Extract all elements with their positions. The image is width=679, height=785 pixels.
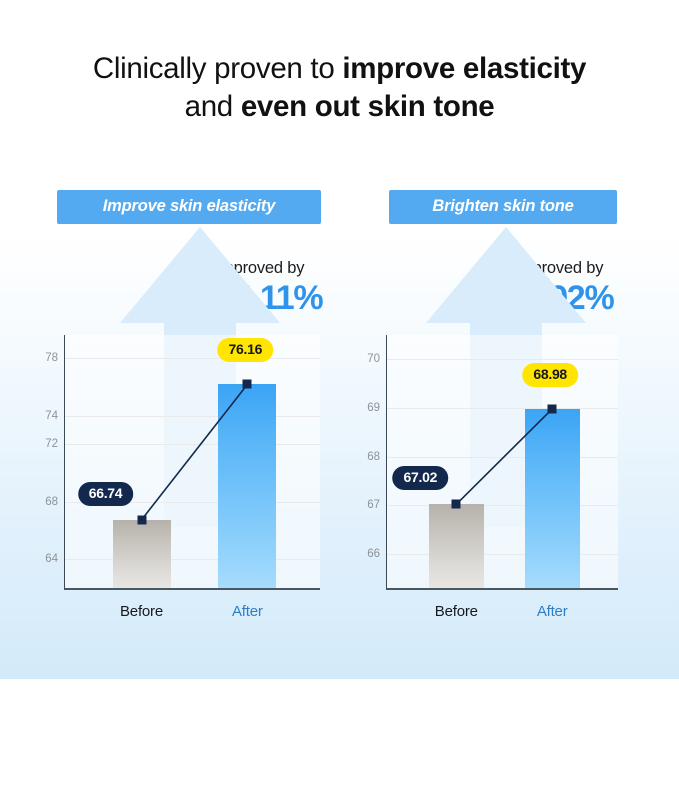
plot-wrapper-tone: 706968676667.0268.98BeforeAfter bbox=[386, 335, 618, 590]
plot-wrapper-elasticity: 787472686466.7476.16BeforeAfter bbox=[64, 335, 320, 590]
improvement-callout-tone: Improved by +2.92% bbox=[449, 258, 669, 317]
x-axis-label-before: Before bbox=[120, 603, 163, 620]
y-axis-tick-label: 78 bbox=[45, 352, 58, 364]
value-badge-after: 68.98 bbox=[522, 363, 578, 387]
chart-area-tone: 706968676667.0268.98BeforeAfter bbox=[358, 335, 648, 785]
y-axis-tick-label: 68 bbox=[367, 451, 380, 463]
data-point-marker-before bbox=[137, 515, 146, 524]
headline-line-2-bold: even out skin tone bbox=[241, 90, 495, 123]
y-axis-tick-label: 68 bbox=[45, 496, 58, 508]
x-axis-label-after: After bbox=[537, 603, 568, 620]
value-badge-after: 76.16 bbox=[218, 338, 274, 362]
y-axis-tick-label: 70 bbox=[367, 353, 380, 365]
improvement-callout-elasticity: Improved by +14.11% bbox=[150, 258, 370, 317]
chart-panel-elasticity: Improve skin elasticity Improved by +14.… bbox=[34, 190, 344, 224]
headline-line-2-plain: and bbox=[185, 90, 241, 123]
y-axis-tick-label: 69 bbox=[367, 402, 380, 414]
gridline bbox=[65, 444, 320, 445]
headline-line-1-bold: improve elasticity bbox=[342, 52, 586, 85]
data-point-marker-after bbox=[548, 404, 557, 413]
plot-elasticity: 787472686466.7476.16BeforeAfter bbox=[64, 335, 320, 590]
bar-before bbox=[113, 520, 171, 588]
bar-before bbox=[429, 504, 484, 588]
gridline bbox=[65, 559, 320, 560]
x-axis-label-after: After bbox=[232, 603, 263, 620]
improvement-label: Improved by bbox=[449, 258, 669, 278]
chart-area-elasticity: 787472686466.7476.16BeforeAfter bbox=[34, 335, 344, 785]
gridline bbox=[65, 358, 320, 359]
data-point-marker-before bbox=[452, 500, 461, 509]
gridline bbox=[387, 359, 618, 360]
chart-banner-tone: Brighten skin tone bbox=[389, 190, 617, 224]
y-axis-tick-label: 64 bbox=[45, 553, 58, 565]
value-badge-before: 66.74 bbox=[78, 482, 134, 506]
y-axis-tick-label: 66 bbox=[367, 548, 380, 560]
y-axis-tick-label: 72 bbox=[45, 438, 58, 450]
improvement-value: +14.11% bbox=[150, 279, 370, 317]
headline-line-2: and even out skin tone bbox=[0, 88, 679, 126]
value-badge-before: 67.02 bbox=[393, 466, 449, 490]
plot-tone: 706968676667.0268.98BeforeAfter bbox=[386, 335, 618, 590]
data-point-marker-after bbox=[243, 380, 252, 389]
chart-panel-tone: Brighten skin tone Improved by +2.92% 70… bbox=[358, 190, 648, 224]
gridline bbox=[387, 505, 618, 506]
gridline bbox=[65, 416, 320, 417]
bar-after bbox=[525, 409, 580, 588]
improvement-label: Improved by bbox=[150, 258, 370, 278]
gridline bbox=[387, 554, 618, 555]
trend-connector-line bbox=[65, 335, 320, 588]
page-title: Clinically proven to improve elasticity … bbox=[0, 50, 679, 126]
trend-connector-line bbox=[387, 335, 618, 588]
gridline bbox=[387, 457, 618, 458]
headline-line-1-plain: Clinically proven to bbox=[93, 52, 342, 85]
headline-line-1: Clinically proven to improve elasticity bbox=[0, 50, 679, 88]
chart-banner-elasticity: Improve skin elasticity bbox=[57, 190, 321, 224]
x-axis-label-before: Before bbox=[435, 603, 478, 620]
improvement-value: +2.92% bbox=[449, 279, 669, 317]
y-axis-tick-label: 67 bbox=[367, 499, 380, 511]
gridline bbox=[387, 408, 618, 409]
y-axis-tick-label: 74 bbox=[45, 410, 58, 422]
bar-after bbox=[218, 384, 276, 588]
